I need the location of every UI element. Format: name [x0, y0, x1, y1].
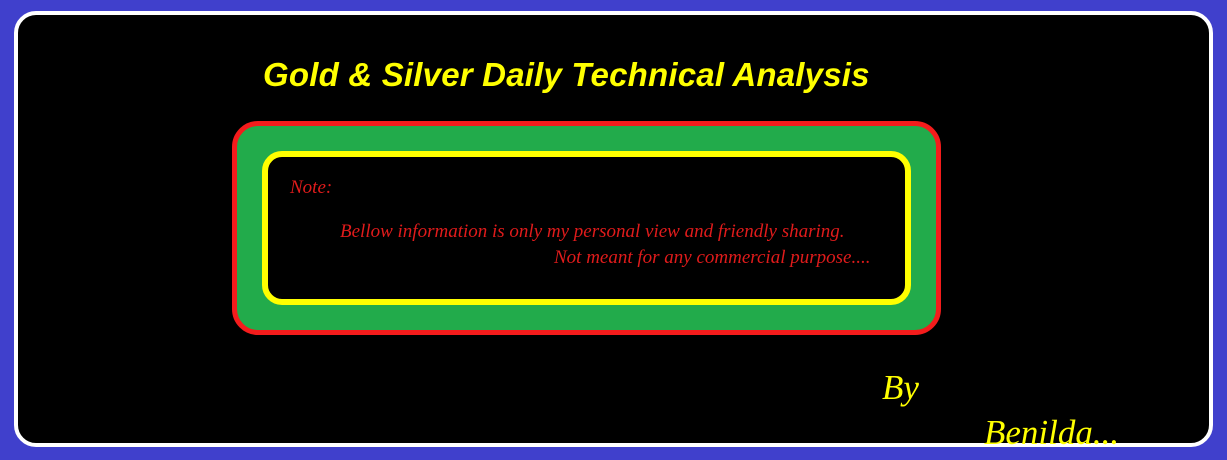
slide-frame: Gold & Silver Daily Technical Analysis N…	[0, 0, 1227, 460]
signature-by-label: By	[882, 368, 919, 408]
note-box: Note: Bellow information is only my pers…	[232, 121, 941, 335]
note-text-line-1: Bellow information is only my personal v…	[340, 221, 845, 243]
slide-canvas: Gold & Silver Daily Technical Analysis N…	[14, 11, 1213, 447]
signature-author-name: Benilda...	[984, 413, 1119, 453]
note-box-inner-panel: Note: Bellow information is only my pers…	[262, 151, 911, 305]
note-label: Note:	[290, 177, 332, 199]
note-text-line-2: Not meant for any commercial purpose....	[554, 247, 870, 269]
page-title: Gold & Silver Daily Technical Analysis	[263, 57, 870, 93]
note-body: Note: Bellow information is only my pers…	[268, 157, 905, 299]
